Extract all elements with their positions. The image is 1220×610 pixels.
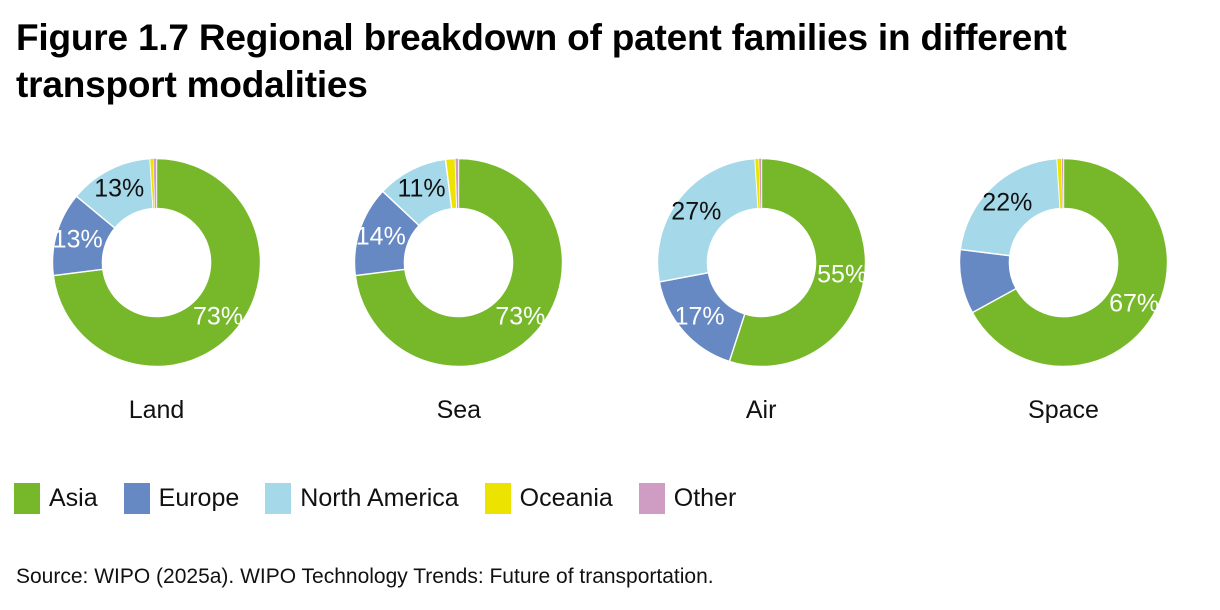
page-title: Figure 1.7 Regional breakdown of patent … — [16, 14, 1196, 109]
donut-chart-land: 73%13%13%Land — [14, 155, 299, 445]
legend-swatch-north-america — [265, 483, 291, 514]
legend-item-europe[interactable]: Europe — [124, 483, 240, 514]
donut-ring: 55%17%27% — [654, 155, 869, 370]
legend-swatch-oceania — [485, 483, 511, 514]
legend: AsiaEuropeNorth AmericaOceaniaOther — [14, 483, 762, 514]
donut-ring: 67%22% — [956, 155, 1171, 370]
legend-swatch-europe — [124, 483, 150, 514]
legend-item-north-america[interactable]: North America — [265, 483, 458, 514]
legend-label: Asia — [49, 484, 98, 513]
donut-charts-row: 73%13%13%Land73%14%11%Sea55%17%27%Air67%… — [0, 155, 1220, 445]
legend-label: Other — [674, 484, 737, 513]
donut-chart-air: 55%17%27%Air — [619, 155, 904, 445]
legend-item-asia[interactable]: Asia — [14, 483, 98, 514]
legend-item-other[interactable]: Other — [639, 483, 737, 514]
pie-slice-north-america[interactable] — [657, 159, 758, 282]
legend-label: Europe — [159, 484, 240, 513]
category-label-air: Air — [746, 396, 777, 425]
pie-slice-north-america[interactable] — [960, 159, 1060, 256]
legend-swatch-asia — [14, 483, 40, 514]
category-label-land: Land — [129, 396, 185, 425]
pie-slice-europe[interactable] — [659, 273, 744, 362]
category-label-sea: Sea — [437, 396, 481, 425]
legend-item-oceania[interactable]: Oceania — [485, 483, 613, 514]
category-label-space: Space — [1028, 396, 1099, 425]
figure-container: Figure 1.7 Regional breakdown of patent … — [0, 0, 1220, 610]
legend-swatch-other — [639, 483, 665, 514]
legend-label: North America — [300, 484, 458, 513]
donut-chart-space: 67%22%Space — [921, 155, 1206, 445]
legend-label: Oceania — [520, 484, 613, 513]
source-note: Source: WIPO (2025a). WIPO Technology Tr… — [16, 565, 714, 589]
donut-ring: 73%14%11% — [351, 155, 566, 370]
donut-ring: 73%13%13% — [49, 155, 264, 370]
donut-chart-sea: 73%14%11%Sea — [316, 155, 601, 445]
